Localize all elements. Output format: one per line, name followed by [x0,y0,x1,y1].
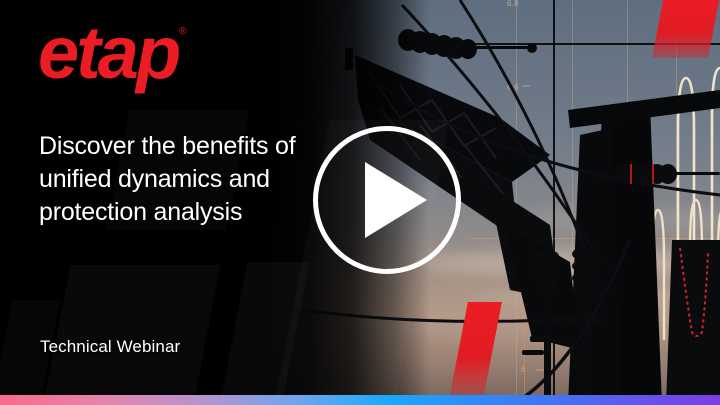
play-button[interactable] [313,126,461,274]
play-triangle-icon [365,162,427,238]
accent-gradient-bar [0,395,720,405]
decorative-shape [39,265,220,405]
registered-trademark-icon: ® [179,26,186,37]
video-thumbnail-card[interactable]: 6.8 6.6 6 MW [0,0,720,405]
logo-wordmark: etap [38,16,178,90]
etap-logo[interactable]: etap ® [38,16,187,90]
content-type-label: Technical Webinar [40,337,180,357]
